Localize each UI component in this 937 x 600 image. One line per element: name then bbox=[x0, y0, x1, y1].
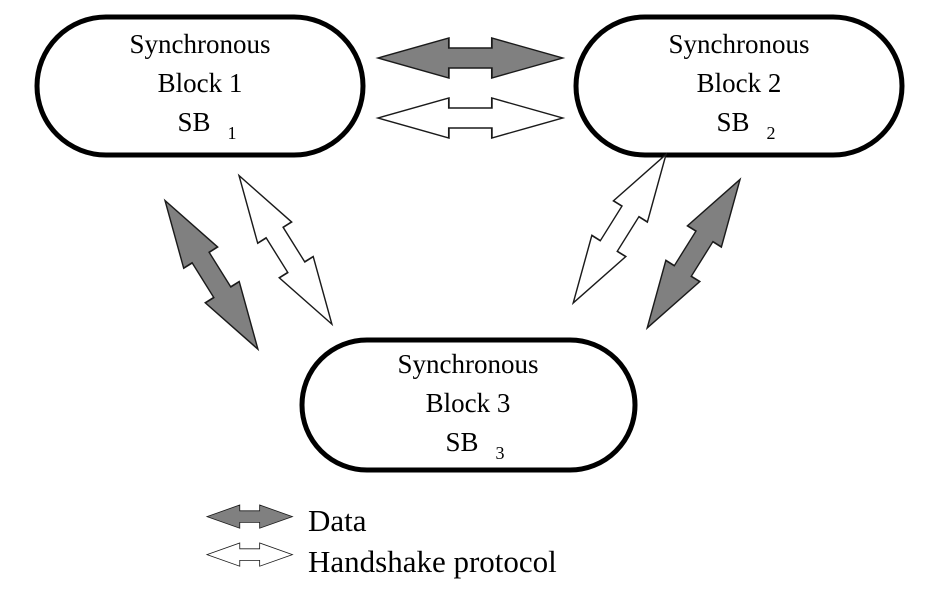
block-sb3-line1: Synchronous bbox=[398, 349, 539, 379]
block-sb3-label-base: SB bbox=[445, 427, 478, 457]
diagram-canvas: Synchronous Block 1 SB 1 Synchronous Blo… bbox=[0, 0, 937, 600]
block-sb1-line1: Synchronous bbox=[130, 29, 271, 59]
block-sb2-label-base: SB bbox=[716, 107, 749, 137]
legend-handshake-arrow-shape bbox=[207, 543, 292, 566]
arrow-sb1-sb2-data[interactable] bbox=[378, 38, 563, 78]
legend-data-arrow-shape bbox=[207, 505, 292, 528]
block-sb1[interactable]: Synchronous Block 1 SB 1 bbox=[37, 17, 363, 155]
legend-item-data[interactable]: Data bbox=[207, 503, 367, 538]
block-sb2-line1: Synchronous bbox=[669, 29, 810, 59]
block-sb3[interactable]: Synchronous Block 3 SB 3 bbox=[302, 340, 635, 470]
legend-data-label: Data bbox=[308, 503, 367, 538]
block-sb2-line2: Block 2 bbox=[697, 68, 782, 98]
block-sb3-line2: Block 3 bbox=[426, 388, 511, 418]
block-sb1-label-base: SB bbox=[177, 107, 210, 137]
legend: Data Handshake protocol bbox=[207, 503, 557, 579]
arrow-sb1-sb2-data-shape bbox=[378, 38, 563, 78]
legend-item-handshake[interactable]: Handshake protocol bbox=[207, 543, 557, 579]
diagram-root: Synchronous Block 1 SB 1 Synchronous Blo… bbox=[0, 0, 937, 600]
block-sb2[interactable]: Synchronous Block 2 SB 2 bbox=[576, 17, 902, 155]
arrow-sb1-sb2-handshake-shape bbox=[378, 98, 563, 138]
block-sb3-label-sub: 3 bbox=[496, 443, 505, 463]
block-sb2-label-sub: 2 bbox=[767, 123, 776, 143]
legend-data-arrow bbox=[207, 505, 292, 528]
legend-handshake-arrow bbox=[207, 543, 292, 566]
block-sb1-label-sub: 1 bbox=[228, 123, 237, 143]
legend-handshake-label: Handshake protocol bbox=[308, 544, 557, 579]
arrow-sb1-sb2-handshake[interactable] bbox=[378, 98, 563, 138]
block-sb1-line2: Block 1 bbox=[158, 68, 243, 98]
